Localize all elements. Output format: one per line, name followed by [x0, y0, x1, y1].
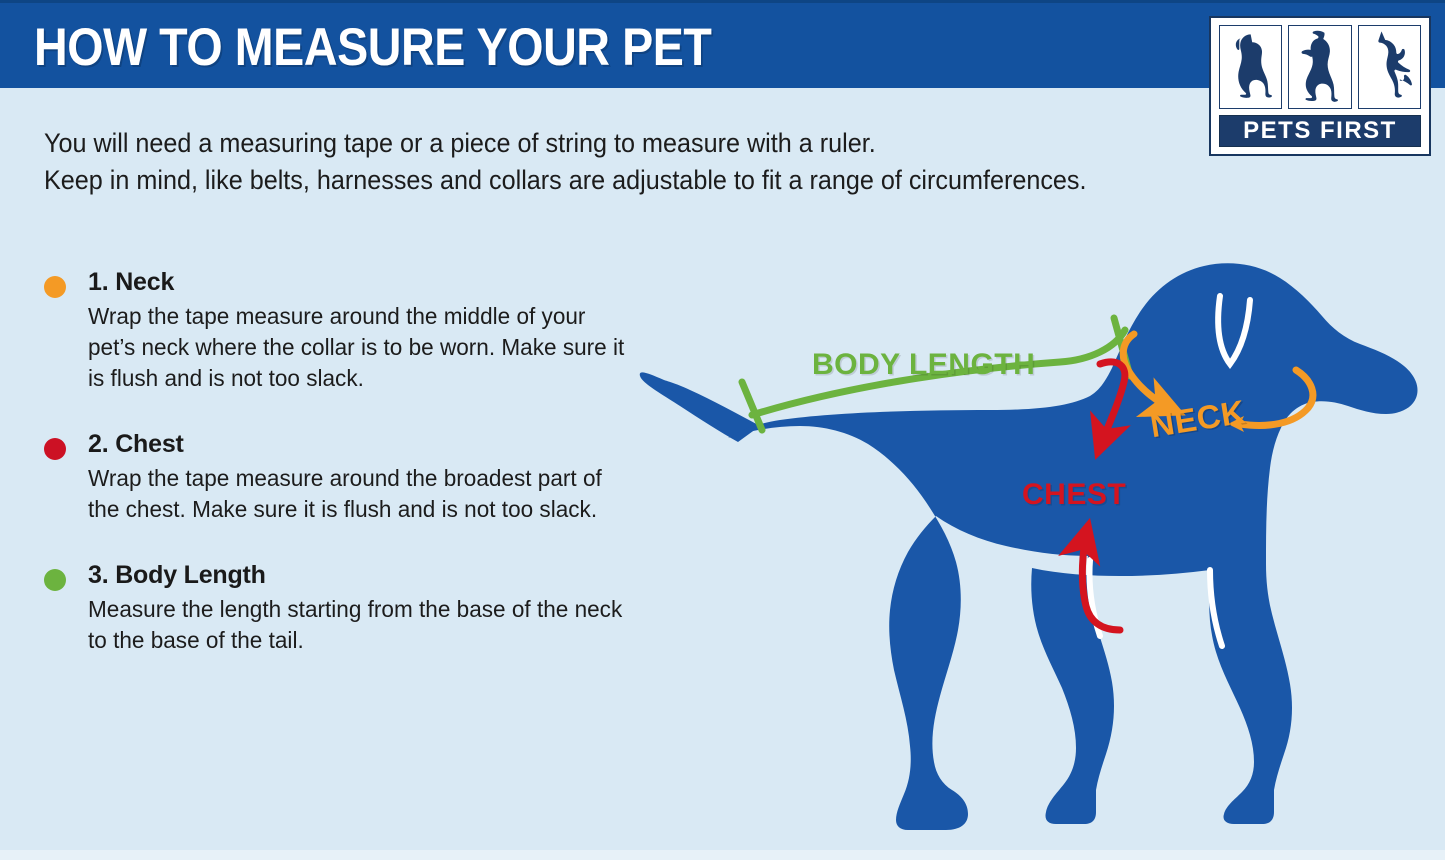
step-chest-title: 2. Chest [88, 430, 660, 459]
intro-paragraph: You will need a measuring tape or a piec… [44, 125, 1127, 199]
step-neck: 1. Neck Wrap the tape measure around the… [40, 268, 660, 394]
howling-dog-icon [1288, 25, 1351, 109]
bullet-neck [44, 276, 66, 298]
measurement-steps-list: 1. Neck Wrap the tape measure around the… [40, 268, 660, 692]
step-neck-title: 1. Neck [88, 268, 660, 297]
intro-line-2: Keep in mind, like belts, harnesses and … [44, 162, 1127, 199]
page-title: HOW TO MEASURE YOUR PET [34, 17, 711, 78]
step-body-length-body: Measure the length starting from the bas… [88, 594, 637, 656]
sitting-shepherd-icon [1358, 25, 1421, 109]
dog-measurement-diagram: BODY LENGTH NECK CHEST [620, 230, 1445, 860]
intro-line-1: You will need a measuring tape or a piec… [44, 125, 1127, 162]
step-body-length-title: 3. Body Length [88, 561, 660, 590]
logo-dog-panels [1219, 25, 1421, 109]
label-chest: CHEST [1022, 478, 1126, 512]
step-chest-body: Wrap the tape measure around the broades… [88, 463, 637, 525]
step-chest: 2. Chest Wrap the tape measure around th… [40, 430, 660, 525]
bullet-chest [44, 438, 66, 460]
bottom-strip [0, 850, 1445, 860]
step-body-length: 3. Body Length Measure the length starti… [40, 561, 660, 656]
logo-wordmark: PETS FIRST [1219, 115, 1421, 147]
step-neck-body: Wrap the tape measure around the middle … [88, 301, 637, 394]
measurement-guide-page: HOW TO MEASURE YOUR PET [0, 0, 1445, 860]
brand-logo: PETS FIRST [1209, 16, 1431, 156]
bullet-body-length [44, 569, 66, 591]
label-body-length: BODY LENGTH [812, 348, 1035, 382]
dog-diagram-svg [620, 230, 1445, 860]
sitting-dog-icon [1219, 25, 1282, 109]
